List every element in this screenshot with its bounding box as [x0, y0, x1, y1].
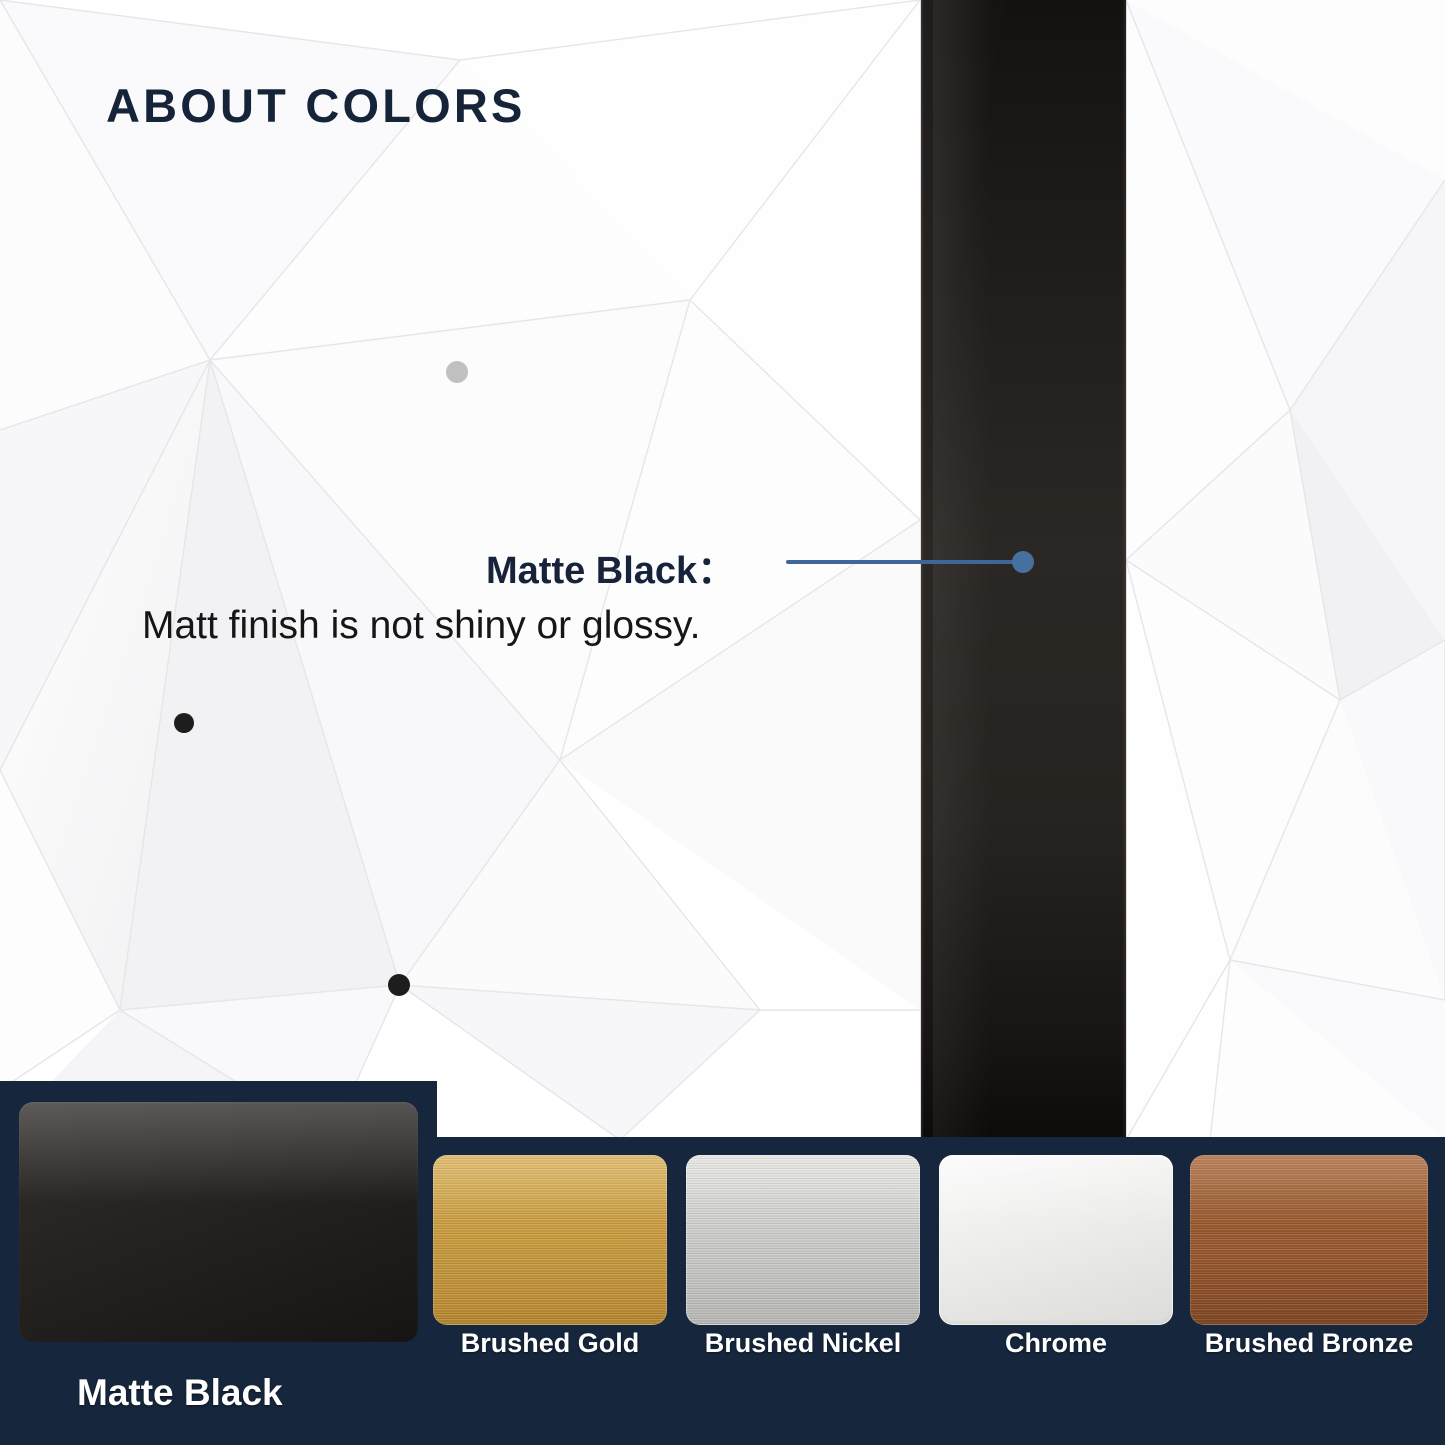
swatch-brushed-bronze[interactable]: [1190, 1155, 1428, 1325]
brushed-texture: [686, 1155, 920, 1325]
swatch-label-chrome: Chrome: [939, 1328, 1173, 1359]
swatch-chrome[interactable]: [939, 1155, 1173, 1325]
brushed-texture: [433, 1155, 667, 1325]
swatch-gloss: [939, 1155, 1173, 1226]
dot-gray-upper: [446, 361, 468, 383]
swatch-label-brushed-gold: Brushed Gold: [433, 1328, 667, 1359]
about-colors-infographic: ABOUT COLORS Matte Black： Matt finish is…: [0, 0, 1445, 1445]
swatch-label-brushed-nickel: Brushed Nickel: [686, 1328, 920, 1359]
dot-dark-left: [174, 713, 194, 733]
brushed-texture: [1190, 1155, 1428, 1325]
swatch-label-brushed-bronze: Brushed Bronze: [1190, 1328, 1428, 1359]
callout-title: Matte Black：: [486, 539, 735, 594]
callout-leader-line: [786, 560, 1021, 564]
swatch-matte-black[interactable]: [19, 1102, 418, 1342]
swatch-brushed-nickel[interactable]: [686, 1155, 920, 1325]
swatch-gloss: [19, 1102, 418, 1203]
callout-description: Matt finish is not shiny or glossy.: [142, 604, 701, 648]
swatch-brushed-gold[interactable]: [433, 1155, 667, 1325]
dot-dark-lower: [388, 974, 410, 996]
strip-sheen: [933, 0, 990, 1138]
callout-leader-dot-icon: [1012, 551, 1034, 573]
page-title: ABOUT COLORS: [106, 78, 526, 133]
strip-left-edge: [921, 0, 924, 1138]
swatch-label-matte-black: Matte Black: [19, 1372, 418, 1414]
strip-right-edge: [1122, 0, 1126, 1138]
